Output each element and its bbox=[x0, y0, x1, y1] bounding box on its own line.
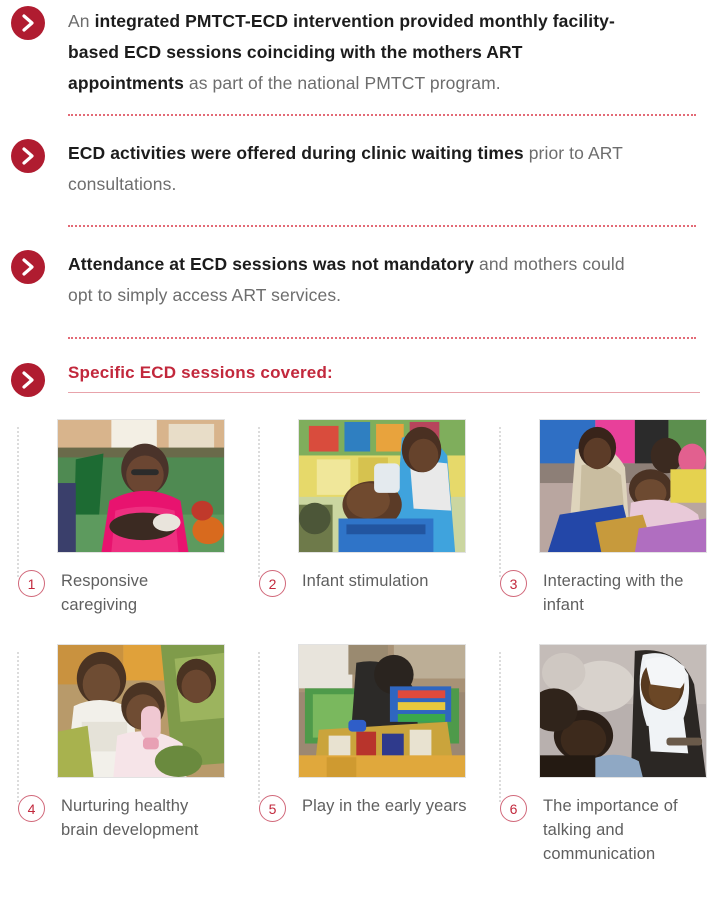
session-image-6 bbox=[539, 644, 707, 778]
bullet-item-2: ECD activities were offered during clini… bbox=[0, 116, 708, 200]
session-label-6: The importance of talking and communicat… bbox=[543, 794, 708, 866]
session-caption-4: 4 Nurturing healthy brain development bbox=[17, 794, 241, 842]
session-image-4 bbox=[57, 644, 225, 778]
sessions-grid-row-1: 1 Responsive caregiving bbox=[0, 419, 708, 617]
column-divider bbox=[258, 427, 260, 577]
column-divider bbox=[499, 652, 501, 802]
column-divider bbox=[499, 427, 501, 577]
session-image-1 bbox=[57, 419, 225, 553]
session-caption-1: 1 Responsive caregiving bbox=[17, 569, 241, 617]
chevron-right-icon bbox=[11, 139, 45, 173]
session-number-1: 1 bbox=[18, 570, 45, 597]
bullet-item-3: Attendance at ECD sessions was not manda… bbox=[0, 227, 708, 311]
chevron-right-icon bbox=[11, 363, 45, 397]
section-heading-block: Specific ECD sessions covered: bbox=[0, 339, 708, 392]
bullet-item-1: An integrated PMTCT-ECD intervention pro… bbox=[0, 0, 708, 99]
session-number-2: 2 bbox=[259, 570, 286, 597]
session-card-1[interactable]: 1 Responsive caregiving bbox=[0, 419, 241, 617]
section-title: Specific ECD sessions covered: bbox=[68, 363, 708, 392]
session-caption-3: 3 Interacting with the infant bbox=[499, 569, 708, 617]
session-label-4: Nurturing healthy brain development bbox=[61, 794, 229, 842]
sessions-grid-row-2: 4 Nurturing healthy brain development bbox=[0, 644, 708, 866]
section-underline bbox=[68, 392, 700, 393]
session-card-4[interactable]: 4 Nurturing healthy brain development bbox=[0, 644, 241, 866]
session-image-5 bbox=[298, 644, 466, 778]
session-card-3[interactable]: 3 Interacting with the infant bbox=[482, 419, 708, 617]
session-number-5: 5 bbox=[259, 795, 286, 822]
session-label-2: Infant stimulation bbox=[302, 569, 429, 593]
bullet-text-1: An integrated PMTCT-ECD intervention pro… bbox=[68, 6, 708, 99]
chevron-right-icon bbox=[11, 6, 45, 40]
session-card-2[interactable]: 2 Infant stimulation bbox=[241, 419, 482, 617]
bullet-text-2: ECD activities were offered during clini… bbox=[68, 138, 708, 200]
session-card-6[interactable]: 6 The importance of talking and communic… bbox=[482, 644, 708, 866]
session-number-4: 4 bbox=[18, 795, 45, 822]
session-number-6: 6 bbox=[500, 795, 527, 822]
column-divider bbox=[258, 652, 260, 802]
infographic-page: An integrated PMTCT-ECD intervention pro… bbox=[0, 0, 708, 900]
session-number-3: 3 bbox=[500, 570, 527, 597]
column-divider bbox=[17, 652, 19, 802]
session-image-2 bbox=[298, 419, 466, 553]
column-divider bbox=[17, 427, 19, 577]
session-image-3 bbox=[539, 419, 707, 553]
session-label-5: Play in the early years bbox=[302, 794, 467, 818]
bullet-text-3: Attendance at ECD sessions was not manda… bbox=[68, 249, 708, 311]
session-label-1: Responsive caregiving bbox=[61, 569, 229, 617]
chevron-right-icon bbox=[11, 250, 45, 284]
session-label-3: Interacting with the infant bbox=[543, 569, 708, 617]
session-caption-2: 2 Infant stimulation bbox=[258, 569, 482, 597]
session-caption-6: 6 The importance of talking and communic… bbox=[499, 794, 708, 866]
session-caption-5: 5 Play in the early years bbox=[258, 794, 482, 822]
session-card-5[interactable]: 5 Play in the early years bbox=[241, 644, 482, 866]
